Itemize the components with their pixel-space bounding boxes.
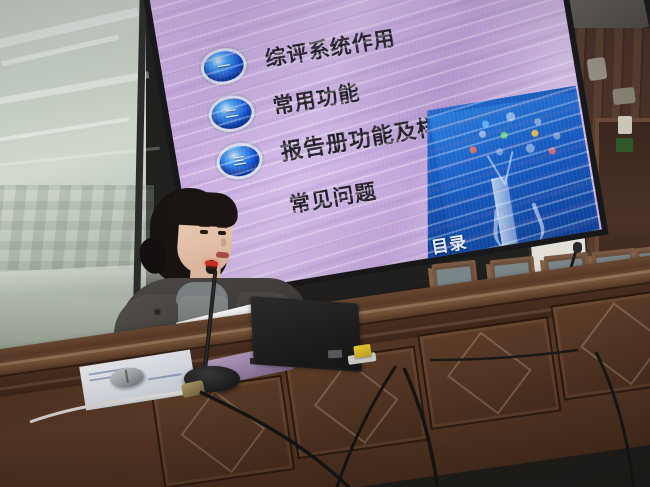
eyebrow: [199, 225, 210, 227]
cable-group: [0, 330, 650, 487]
desk-cable-run: [430, 350, 578, 360]
agenda-numeral: 一: [216, 60, 231, 72]
black-cable-2: [404, 368, 438, 487]
agenda-number-badge-2: 二: [209, 96, 253, 132]
glass-reflection-streak: [0, 7, 139, 50]
nose: [221, 238, 226, 247]
agenda-numeral: 三: [232, 155, 247, 167]
glass-reflection-streak: [0, 117, 129, 143]
black-cable-3: [336, 366, 396, 487]
wall-speaker-icon: [587, 57, 608, 81]
cable-svg: [0, 330, 650, 487]
conference-room-scene: 一 综评系统作用 二 常用功能 三 报告册功能及样式: [0, 0, 650, 487]
white-cable: [30, 392, 182, 422]
glass-reflection-streak: [0, 71, 149, 107]
agenda-label-1: 综评系统作用: [262, 21, 398, 76]
agenda-number-badge-3: 三: [217, 143, 261, 179]
wall-mounted-device-icon: [612, 87, 636, 105]
wall-sensor-icon: [618, 116, 632, 134]
exit-sign-icon: [616, 138, 633, 152]
black-cable-4: [596, 352, 634, 487]
eye: [200, 230, 208, 235]
black-cable-1: [200, 392, 352, 487]
eye: [218, 231, 226, 236]
cardigan-button: [154, 308, 161, 315]
agenda-numeral: 二: [224, 108, 239, 120]
frosted-glass-partition: [0, 0, 146, 330]
agenda-number-badge-1: 一: [202, 48, 246, 84]
